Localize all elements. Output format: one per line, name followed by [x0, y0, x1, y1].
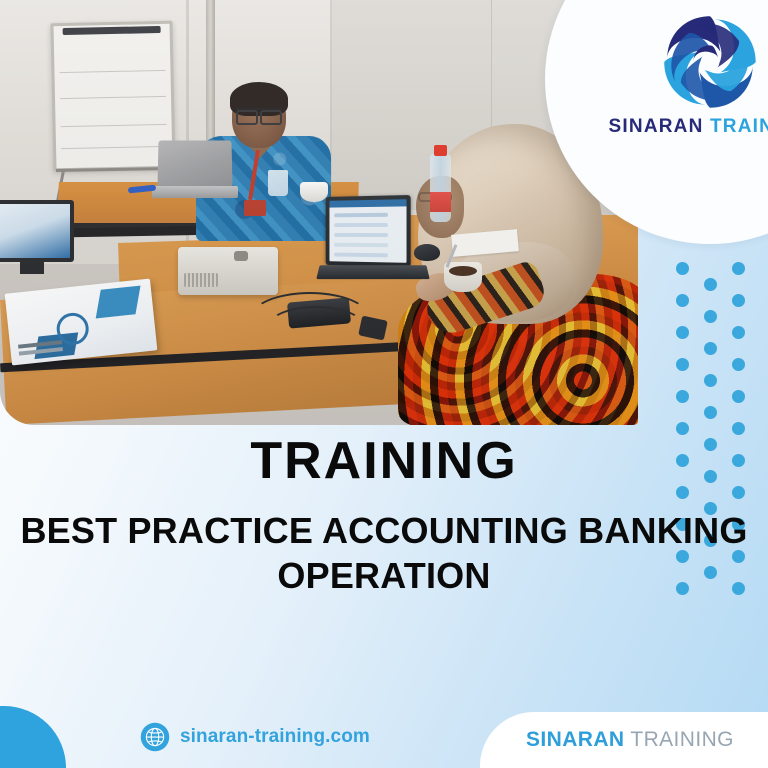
dot	[704, 342, 717, 355]
logo-word-secondary: TRAINING	[710, 116, 768, 137]
coffee-cup	[444, 262, 482, 292]
dot	[676, 294, 689, 307]
dot	[732, 262, 745, 275]
branded-folder	[5, 279, 158, 366]
drinking-glass	[268, 170, 288, 196]
participant-laptop	[318, 196, 428, 286]
poster-title: TRAINING	[0, 432, 768, 490]
dot	[732, 390, 745, 403]
dot	[704, 374, 717, 387]
glasses-icon	[236, 108, 282, 119]
website-url-text: sinaran-training.com	[180, 726, 370, 748]
training-photo	[0, 0, 638, 425]
dot	[704, 310, 717, 323]
monitor	[0, 200, 74, 272]
computer-mouse	[414, 244, 440, 261]
poster-subtitle: BEST PRACTICE ACCOUNTING BANKING OPERATI…	[0, 508, 768, 598]
dot	[704, 406, 717, 419]
dot	[676, 358, 689, 371]
logo-lockup: SINARAN TRAINING	[605, 10, 768, 138]
photo-scene	[0, 0, 638, 425]
footer-brand-secondary: TRAINING	[624, 728, 733, 751]
website-link[interactable]: sinaran-training.com	[140, 722, 370, 752]
cable	[268, 306, 364, 346]
logo-wordmark: SINARAN TRAINING	[605, 116, 768, 138]
sinaran-swirl-logo-icon	[658, 10, 762, 114]
logo-word-primary: SINARAN	[609, 116, 704, 137]
globe-icon	[140, 722, 170, 752]
training-poster: SINARAN TRAINING TRAINING BEST PRACTICE …	[0, 0, 768, 768]
footer-brand-primary: SINARAN	[526, 728, 624, 751]
title-block: TRAINING BEST PRACTICE ACCOUNTING BANKIN…	[0, 432, 768, 598]
dot	[732, 294, 745, 307]
corner-accent-shape	[0, 706, 66, 768]
presenter-laptop	[152, 140, 238, 202]
dot	[676, 326, 689, 339]
dot	[704, 278, 717, 291]
flipchart-clip	[63, 26, 161, 35]
dot	[732, 326, 745, 339]
water-bottle	[430, 154, 451, 222]
footer-brand-panel: SINARAN TRAINING	[480, 712, 768, 768]
dot	[676, 262, 689, 275]
footer-wordmark: SINARAN TRAINING	[526, 728, 734, 752]
dot	[676, 390, 689, 403]
dot	[732, 358, 745, 371]
id-badge	[244, 200, 266, 216]
projector	[178, 247, 278, 295]
